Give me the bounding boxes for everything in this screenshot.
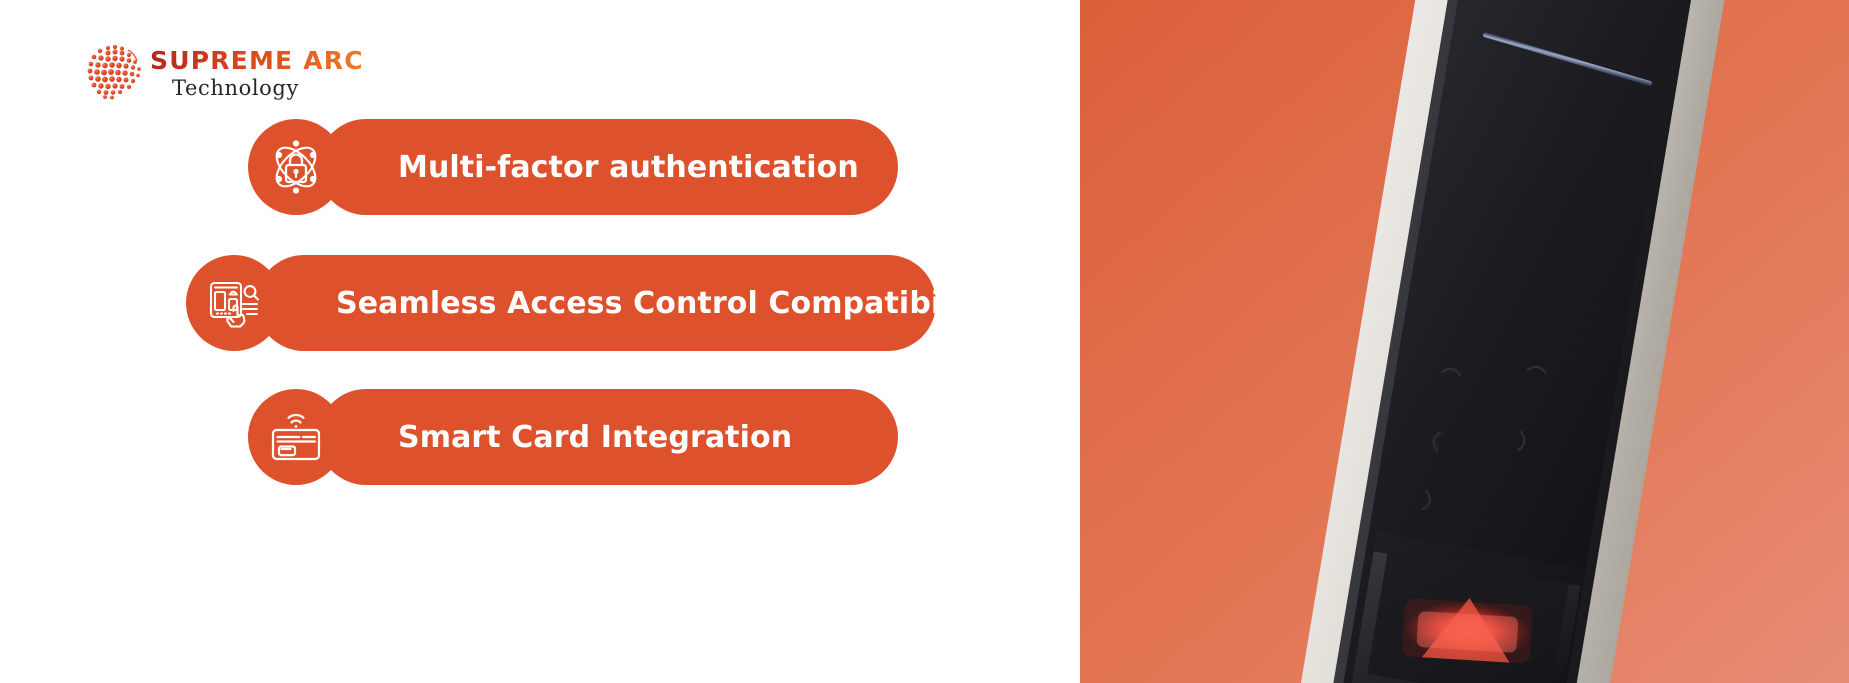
logo-subtitle: Technology <box>172 78 364 99</box>
feature-label: Smart Card Integration <box>398 420 792 455</box>
feature-row[interactable]: Multi-factor authentication <box>248 119 898 215</box>
feature-pill[interactable]: Multi-factor authentication <box>318 119 898 215</box>
feature-row[interactable]: Seamless Access Control Compatibility <box>186 255 936 351</box>
biometric-terminal-photo <box>1080 0 1849 683</box>
network-lock-icon <box>248 119 344 215</box>
contactless-smart-card-icon <box>248 389 344 485</box>
logo-title: SUPREME ARC <box>150 48 364 73</box>
feature-pill[interactable]: Smart Card Integration <box>318 389 898 485</box>
dotted-sphere-globe-icon <box>84 41 146 103</box>
feature-label: Multi-factor authentication <box>398 150 859 185</box>
brand-logo[interactable]: SUPREME ARC Technology <box>84 36 384 108</box>
feature-label: Seamless Access Control Compatibility <box>336 286 996 321</box>
feature-pill[interactable]: Seamless Access Control Compatibility <box>256 255 936 351</box>
feature-row[interactable]: Smart Card Integration <box>248 389 898 485</box>
hero-image-panel <box>1080 0 1849 683</box>
feature-banner: SUPREME ARC Technology <box>0 0 1849 683</box>
tablet-touch-search-icon <box>186 255 282 351</box>
